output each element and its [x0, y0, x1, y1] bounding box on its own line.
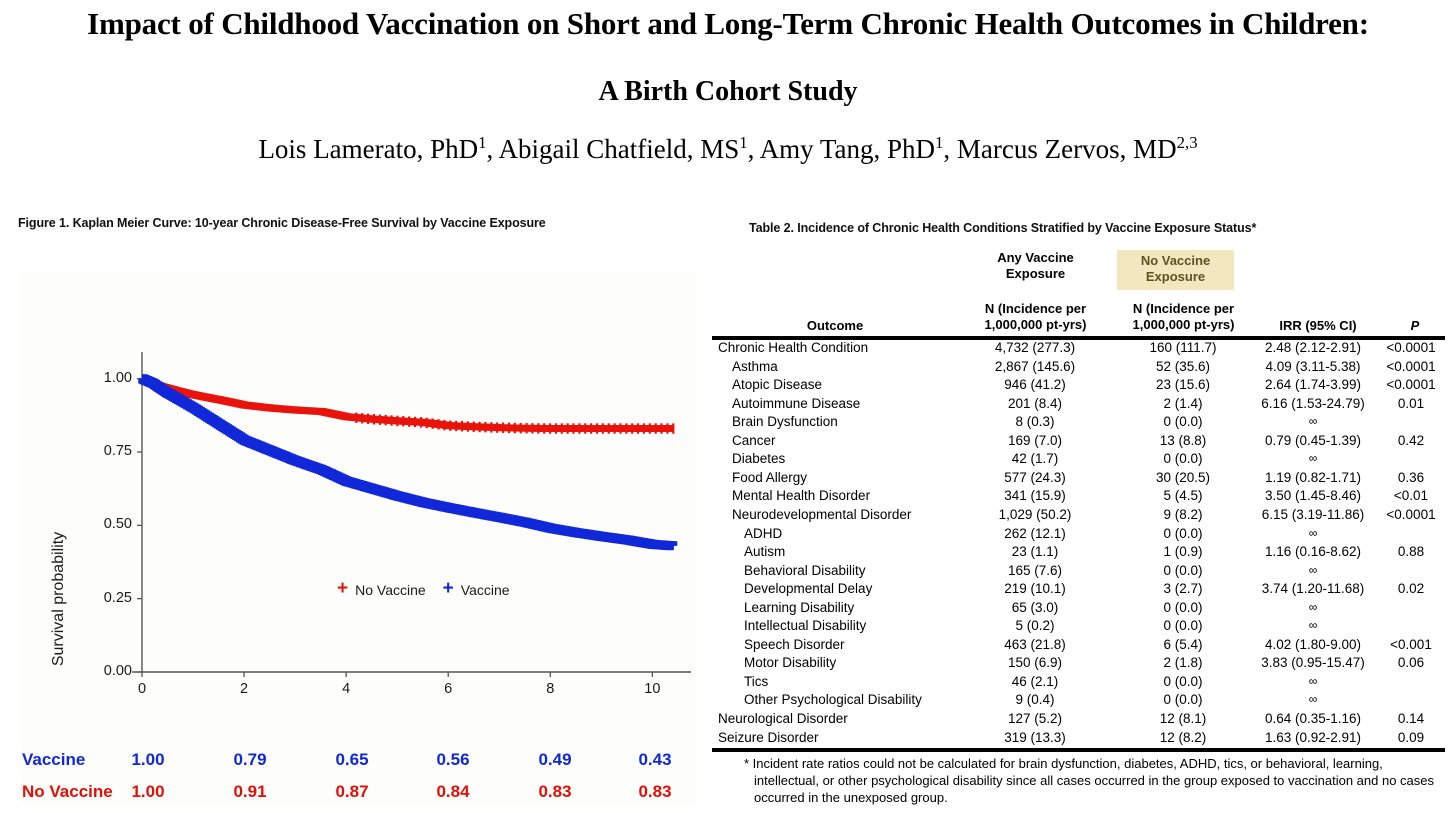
table-row: Learning Disability65 (3.0)0 (0.0)∞	[712, 600, 1445, 619]
risk-table-value: 0.49	[520, 750, 590, 770]
table-cell-irr: 2.48 (2.12-2.91)	[1239, 340, 1387, 355]
table-cell-any-vaccine: 2,867 (145.6)	[955, 359, 1115, 374]
table-bottom-rule	[712, 748, 1445, 752]
risk-table-value: 0.83	[520, 782, 590, 802]
column-header-any-n-line2: 1,000,000 pt-yrs)	[963, 317, 1108, 333]
table-cell-irr: 6.16 (1.53-24.79)	[1239, 396, 1387, 411]
table-cell-outcome: Other Psychological Disability	[744, 692, 922, 707]
risk-table-value: 0.84	[418, 782, 488, 802]
table-cell-outcome: Learning Disability	[744, 600, 854, 615]
kaplan-meier-chart	[21, 272, 696, 805]
table-cell-outcome: Cancer	[732, 433, 776, 448]
column-header-p-value: P	[1385, 318, 1445, 334]
group-header-any-vaccine-line1: Any Vaccine	[963, 250, 1108, 266]
table-cell-p-value: 0.02	[1377, 581, 1445, 596]
table-cell-irr: ∞	[1239, 526, 1387, 540]
risk-table-value: 0.65	[317, 750, 387, 770]
table-cell-irr: 2.64 (1.74-3.99)	[1239, 377, 1387, 392]
table-row: Neurodevelopmental Disorder1,029 (50.2)9…	[712, 507, 1445, 526]
column-header-outcome: Outcome	[760, 318, 910, 334]
author-list: Lois Lamerato, PhD1, Abigail Chatfield, …	[0, 133, 1456, 165]
table-cell-irr: 6.15 (3.19-11.86)	[1239, 507, 1387, 522]
y-tick-label: 0.50	[76, 516, 132, 532]
risk-table-value: 1.00	[113, 750, 183, 770]
table-cell-irr: 1.19 (0.82-1.71)	[1239, 470, 1387, 485]
table-cell-p-value: 0.09	[1377, 730, 1445, 745]
table-row: Motor Disability150 (6.9)2 (1.8)3.83 (0.…	[712, 655, 1445, 674]
column-header-any-vaccine-n: N (Incidence per 1,000,000 pt-yrs)	[963, 301, 1108, 334]
table-cell-p-value: 0.36	[1377, 470, 1445, 485]
table-cell-irr: 3.83 (0.95-15.47)	[1239, 655, 1387, 670]
table-cell-any-vaccine: 219 (10.1)	[955, 581, 1115, 596]
poster-page: Impact of Childhood Vaccination on Short…	[0, 0, 1456, 813]
table-cell-any-vaccine: 341 (15.9)	[955, 488, 1115, 503]
table-cell-irr: 4.09 (3.11-5.38)	[1239, 359, 1387, 374]
x-tick-label: 10	[632, 681, 672, 697]
table-cell-irr: ∞	[1239, 600, 1387, 614]
column-header-no-vaccine-n: N (Incidence per 1,000,000 pt-yrs)	[1111, 301, 1256, 334]
table-row: Mental Health Disorder341 (15.9)5 (4.5)3…	[712, 488, 1445, 507]
table-cell-any-vaccine: 42 (1.7)	[955, 451, 1115, 466]
table-row: Behavioral Disability165 (7.6)0 (0.0)∞	[712, 563, 1445, 582]
table-cell-outcome: Motor Disability	[744, 655, 836, 670]
table-row: Speech Disorder463 (21.8)6 (5.4)4.02 (1.…	[712, 637, 1445, 656]
column-header-none-n-line2: 1,000,000 pt-yrs)	[1111, 317, 1256, 333]
y-axis-label: Survival probability	[50, 499, 68, 699]
table-cell-outcome: Autism	[744, 544, 785, 559]
risk-table-value: 0.83	[620, 782, 690, 802]
table-cell-irr: ∞	[1239, 451, 1387, 465]
x-tick-label: 0	[122, 681, 162, 697]
poster-title-line-1: Impact of Childhood Vaccination on Short…	[0, 6, 1456, 42]
group-header-no-vaccine-line2: Exposure	[1119, 269, 1232, 285]
column-header-none-n-line1: N (Incidence per	[1111, 301, 1256, 317]
table-row: Neurological Disorder127 (5.2)12 (8.1)0.…	[712, 711, 1445, 730]
x-tick-label: 4	[326, 681, 366, 697]
table-cell-outcome: Brain Dysfunction	[732, 414, 838, 429]
figure-caption: Figure 1. Kaplan Meier Curve: 10-year Ch…	[18, 216, 546, 230]
table-cell-p-value: <0.01	[1377, 488, 1445, 503]
table-cell-p-value: 0.14	[1377, 711, 1445, 726]
x-tick-label: 8	[530, 681, 570, 697]
table-cell-outcome: Speech Disorder	[744, 637, 845, 652]
table-cell-p-value: 0.01	[1377, 396, 1445, 411]
table-cell-any-vaccine: 8 (0.3)	[955, 414, 1115, 429]
table-row: Tics46 (2.1)0 (0.0)∞	[712, 674, 1445, 693]
risk-table-row-label: No Vaccine	[22, 782, 113, 802]
table-cell-any-vaccine: 165 (7.6)	[955, 563, 1115, 578]
x-tick-label: 6	[428, 681, 468, 697]
table-cell-irr: 0.64 (0.35-1.16)	[1239, 711, 1387, 726]
poster-title-block: Impact of Childhood Vaccination on Short…	[0, 6, 1456, 165]
risk-table-value: 0.87	[317, 782, 387, 802]
table-cell-any-vaccine: 5 (0.2)	[955, 618, 1115, 633]
table-caption: Table 2. Incidence of Chronic Health Con…	[749, 221, 1256, 235]
table-cell-any-vaccine: 46 (2.1)	[955, 674, 1115, 689]
table-cell-outcome: Developmental Delay	[744, 581, 872, 596]
table-row: Autism23 (1.1)1 (0.9)1.16 (0.16-8.62)0.8…	[712, 544, 1445, 563]
table-cell-outcome: Intellectual Disability	[744, 618, 866, 633]
table-cell-any-vaccine: 262 (12.1)	[955, 526, 1115, 541]
table-cell-irr: 1.63 (0.92-2.91)	[1239, 730, 1387, 745]
table-cell-irr: 3.74 (1.20-11.68)	[1239, 581, 1387, 596]
risk-table-value: 0.91	[215, 782, 285, 802]
risk-table-row-label: Vaccine	[22, 750, 85, 770]
group-header-no-vaccine-highlighted: No Vaccine Exposure	[1117, 250, 1234, 290]
table-cell-any-vaccine: 150 (6.9)	[955, 655, 1115, 670]
table-cell-p-value: <0.0001	[1377, 340, 1445, 355]
risk-table-value: 0.43	[620, 750, 690, 770]
y-tick-label: 0.00	[76, 663, 132, 679]
table-row: Atopic Disease946 (41.2)23 (15.6)2.64 (1…	[712, 377, 1445, 396]
table-cell-p-value: 0.42	[1377, 433, 1445, 448]
risk-table-value: 0.56	[418, 750, 488, 770]
y-tick-label: 0.75	[76, 443, 132, 459]
table-cell-outcome: Autoimmune Disease	[732, 396, 860, 411]
y-tick-label: 1.00	[76, 370, 132, 386]
y-tick-label: 0.25	[76, 590, 132, 606]
table-row: Diabetes42 (1.7)0 (0.0)∞	[712, 451, 1445, 470]
table-cell-outcome: ADHD	[744, 526, 782, 541]
column-header-irr: IRR (95% CI)	[1253, 318, 1383, 334]
table-cell-any-vaccine: 463 (21.8)	[955, 637, 1115, 652]
risk-table-value: 0.79	[215, 750, 285, 770]
x-tick-label: 2	[224, 681, 264, 697]
table-cell-outcome: Food Allergy	[732, 470, 807, 485]
table-row: ADHD262 (12.1)0 (0.0)∞	[712, 526, 1445, 545]
table-cell-any-vaccine: 23 (1.1)	[955, 544, 1115, 559]
table-row: Seizure Disorder319 (13.3)12 (8.2)1.63 (…	[712, 730, 1445, 749]
table-cell-p-value: 0.06	[1377, 655, 1445, 670]
table-cell-any-vaccine: 946 (41.2)	[955, 377, 1115, 392]
table-cell-outcome: Mental Health Disorder	[732, 488, 870, 503]
table-cell-irr: 3.50 (1.45-8.46)	[1239, 488, 1387, 503]
group-header-no-vaccine-line1: No Vaccine	[1119, 253, 1232, 269]
table-cell-any-vaccine: 4,732 (277.3)	[955, 340, 1115, 355]
table-cell-outcome: Tics	[744, 674, 768, 689]
figure-panel: + No Vaccine + Vaccine Survival probabil…	[21, 272, 696, 805]
table-cell-outcome: Asthma	[732, 359, 778, 374]
column-header-any-n-line1: N (Incidence per	[963, 301, 1108, 317]
table-cell-irr: ∞	[1239, 692, 1387, 706]
table-cell-irr: 0.79 (0.45-1.39)	[1239, 433, 1387, 448]
table-cell-any-vaccine: 169 (7.0)	[955, 433, 1115, 448]
table-row: Asthma2,867 (145.6)52 (35.6)4.09 (3.11-5…	[712, 359, 1445, 378]
group-header-any-vaccine: Any Vaccine Exposure	[963, 250, 1108, 283]
table-top-rule	[712, 336, 1445, 340]
risk-table-value: 1.00	[113, 782, 183, 802]
poster-subtitle: A Birth Cohort Study	[0, 76, 1456, 108]
table-cell-irr: ∞	[1239, 674, 1387, 688]
table-row: Brain Dysfunction8 (0.3)0 (0.0)∞	[712, 414, 1445, 433]
table-row: Developmental Delay219 (10.1)3 (2.7)3.74…	[712, 581, 1445, 600]
table-row: Autoimmune Disease201 (8.4)2 (1.4)6.16 (…	[712, 396, 1445, 415]
table-cell-any-vaccine: 319 (13.3)	[955, 730, 1115, 745]
table-row: Food Allergy577 (24.3)30 (20.5)1.19 (0.8…	[712, 470, 1445, 489]
table-cell-p-value: <0.0001	[1377, 377, 1445, 392]
table-cell-any-vaccine: 577 (24.3)	[955, 470, 1115, 485]
table-cell-outcome: Neurological Disorder	[718, 711, 848, 726]
table-cell-irr: 4.02 (1.80-9.00)	[1239, 637, 1387, 652]
table-cell-outcome: Seizure Disorder	[718, 730, 819, 745]
table-cell-irr: ∞	[1239, 414, 1387, 428]
table-cell-outcome: Diabetes	[732, 451, 785, 466]
table-cell-outcome: Behavioral Disability	[744, 563, 866, 578]
table-row: Intellectual Disability5 (0.2)0 (0.0)∞	[712, 618, 1445, 637]
table-cell-any-vaccine: 201 (8.4)	[955, 396, 1115, 411]
table-cell-irr: ∞	[1239, 563, 1387, 577]
table-row: Chronic Health Condition4,732 (277.3)160…	[712, 340, 1445, 359]
table-cell-p-value: <0.0001	[1377, 359, 1445, 374]
table-cell-outcome: Chronic Health Condition	[718, 340, 868, 355]
table-cell-p-value: <0.001	[1377, 637, 1445, 652]
table-cell-any-vaccine: 1,029 (50.2)	[955, 507, 1115, 522]
table-cell-p-value: 0.88	[1377, 544, 1445, 559]
table-cell-any-vaccine: 9 (0.4)	[955, 692, 1115, 707]
table-cell-irr: ∞	[1239, 618, 1387, 632]
table-cell-irr: 1.16 (0.16-8.62)	[1239, 544, 1387, 559]
table-cell-p-value: <0.0001	[1377, 507, 1445, 522]
table-row: Other Psychological Disability9 (0.4)0 (…	[712, 692, 1445, 711]
table-cell-outcome: Atopic Disease	[732, 377, 822, 392]
table-cell-any-vaccine: 65 (3.0)	[955, 600, 1115, 615]
table-cell-outcome: Neurodevelopmental Disorder	[732, 507, 911, 522]
table-cell-any-vaccine: 127 (5.2)	[955, 711, 1115, 726]
table-row: Cancer169 (7.0)13 (8.8)0.79 (0.45-1.39)0…	[712, 433, 1445, 452]
group-header-any-vaccine-line2: Exposure	[963, 266, 1108, 282]
table-footnote: * Incident rate ratios could not be calc…	[744, 755, 1434, 806]
